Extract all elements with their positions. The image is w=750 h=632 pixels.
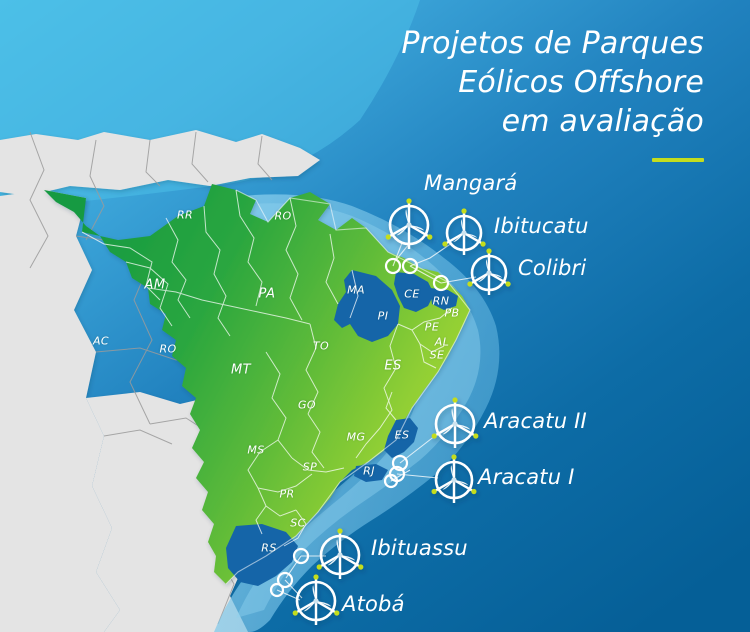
state-label-rs: RS <box>261 542 276 555</box>
infographic-map: Projetos de Parques Eólicos Offshore em … <box>0 0 750 632</box>
state-label-rr: RR <box>177 209 193 222</box>
project-label-ibitucatu[interactable]: Ibitucatu <box>494 214 589 238</box>
state-label-mt: MT <box>231 363 251 378</box>
project-label-mangará[interactable]: Mangará <box>424 171 517 195</box>
state-label-ma: MA <box>347 284 365 297</box>
state-label-pe: PE <box>425 321 439 334</box>
project-label-aracatu-ii[interactable]: Aracatu II <box>484 409 587 433</box>
project-label-aracatu-i[interactable]: Aracatu I <box>478 465 575 489</box>
project-label-colibri[interactable]: Colibri <box>518 256 586 280</box>
state-label-rj: RJ <box>363 465 375 478</box>
state-label-se: SE <box>430 349 445 362</box>
state-label-to: TO <box>313 340 329 353</box>
state-label-am: AM <box>145 278 166 293</box>
state-label-pr: PR <box>279 488 294 501</box>
state-label-sp: SP <box>303 461 317 474</box>
state-label-ro: RO <box>159 343 176 356</box>
state-label-ro: RO <box>274 210 291 223</box>
state-label-pi: PI <box>378 310 389 323</box>
state-label-es: ES <box>384 359 401 374</box>
state-label-es: ES <box>395 429 410 442</box>
state-label-mg: MG <box>347 431 366 444</box>
state-label-al: AL <box>435 336 449 349</box>
project-label-ibituassu[interactable]: Ibituassu <box>371 536 468 560</box>
project-label-atobá[interactable]: Atobá <box>342 592 405 616</box>
state-label-go: GO <box>298 399 316 412</box>
state-label-sc: SC <box>290 517 305 530</box>
state-label-ce: CE <box>404 288 419 301</box>
state-label-pb: PB <box>445 307 460 320</box>
state-label-ms: MS <box>247 444 264 457</box>
state-label-pa: PA <box>259 287 276 302</box>
state-label-ac: AC <box>93 335 109 348</box>
